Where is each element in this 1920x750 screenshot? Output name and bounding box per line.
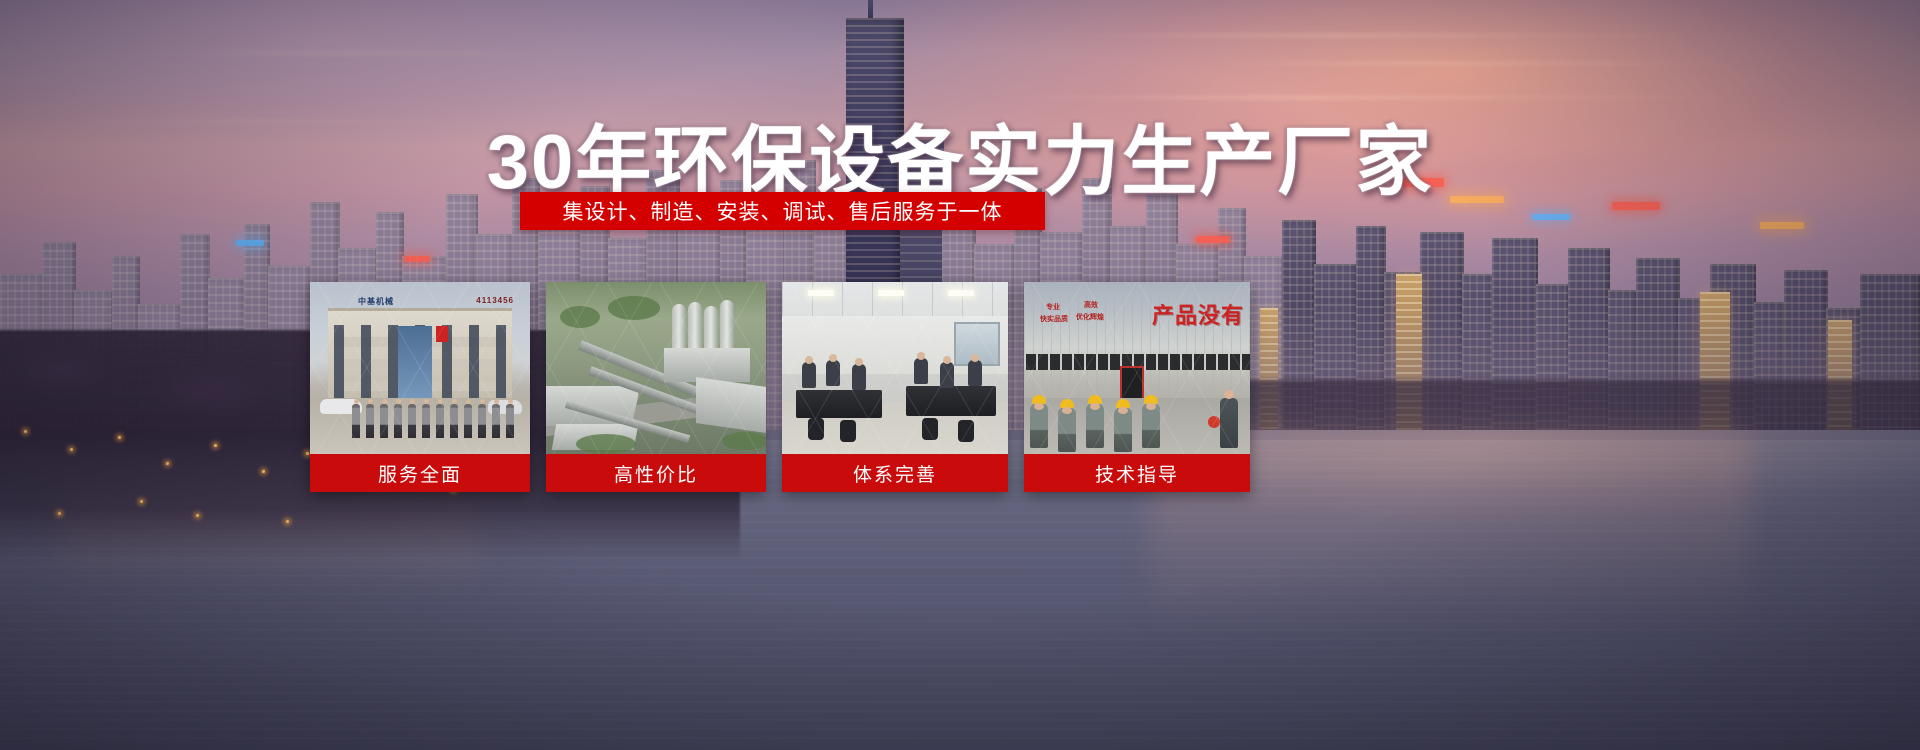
- card-label-bar: 体系完善: [782, 454, 1008, 492]
- feature-card-guidance[interactable]: 产品没有 专业 快实品质 高效 优化辉煌: [1024, 282, 1250, 492]
- factory-slogan-main: 产品没有: [1152, 298, 1244, 330]
- card-label-text: 体系完善: [853, 460, 937, 487]
- factory-slogan-mid: 高效: [1084, 302, 1098, 311]
- feature-card-system[interactable]: 体系完善: [782, 282, 1008, 492]
- building-logo-text: 中基机械: [358, 296, 394, 307]
- card-photo-office-meeting: [782, 282, 1008, 454]
- card-label-bar: 高性价比: [546, 454, 766, 492]
- card-label-bar: 技术指导: [1024, 454, 1250, 492]
- feature-card-service[interactable]: 中基机械 4113456: [310, 282, 530, 492]
- subtitle-text: 集设计、制造、安装、调试、售后服务于一体: [563, 196, 1003, 226]
- building-phone-text: 4113456: [476, 296, 514, 305]
- subtitle-banner: 集设计、制造、安装、调试、售后服务于一体: [520, 192, 1045, 230]
- card-label-bar: 服务全面: [310, 454, 530, 492]
- feature-card-value[interactable]: 高性价比: [546, 282, 766, 492]
- banner-content: 30年环保设备实力生产厂家 集设计、制造、安装、调试、售后服务于一体 中基机械 …: [0, 0, 1920, 750]
- card-label-text: 服务全面: [378, 460, 462, 487]
- factory-slogan-left: 专业: [1046, 304, 1060, 313]
- card-photo-factory-workers: 产品没有 专业 快实品质 高效 优化辉煌: [1024, 282, 1250, 454]
- hero-banner: 30年环保设备实力生产厂家 集设计、制造、安装、调试、售后服务于一体 中基机械 …: [0, 0, 1920, 750]
- card-label-text: 技术指导: [1095, 460, 1179, 487]
- factory-slogan-mid2: 优化辉煌: [1076, 314, 1104, 323]
- feature-card-list: 中基机械 4113456: [310, 282, 1565, 497]
- card-label-text: 高性价比: [614, 460, 698, 487]
- factory-slogan-left2: 快实品质: [1040, 316, 1068, 325]
- card-photo-office-building: 中基机械 4113456: [310, 282, 530, 454]
- card-photo-production-plant: [546, 282, 766, 454]
